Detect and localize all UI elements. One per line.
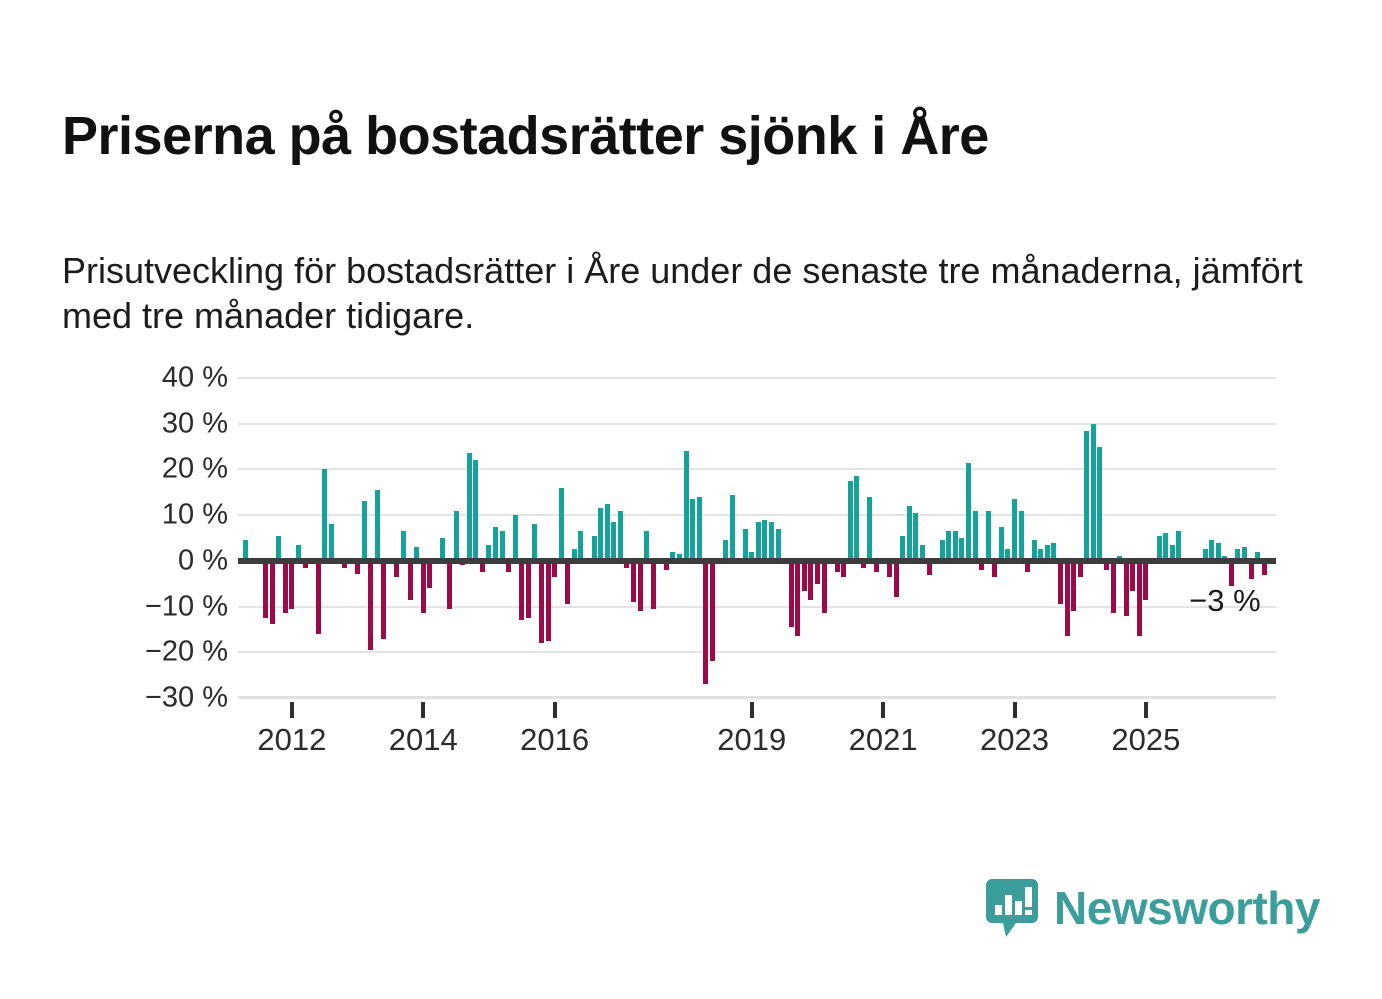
infographic-page: Priserna på bostadsrätter sjönk i Åre Pr…: [0, 0, 1382, 999]
bar-negative: [815, 561, 820, 584]
bar-negative: [519, 561, 524, 620]
bar-negative: [1137, 561, 1142, 636]
bar-negative: [703, 561, 708, 684]
bar-negative: [526, 561, 531, 618]
bar-positive: [611, 522, 616, 561]
bar-positive: [362, 501, 367, 560]
bar-positive: [1019, 511, 1024, 561]
bar-positive: [578, 531, 583, 561]
bar-positive: [1176, 531, 1181, 561]
x-tick: [290, 702, 294, 718]
bar-positive: [1084, 431, 1089, 561]
bar-positive: [473, 460, 478, 561]
y-axis: 40 %30 %20 %10 %0 %−10 %−20 %−30 %: [100, 378, 228, 708]
bar-positive: [532, 524, 537, 561]
bar-positive: [854, 476, 859, 561]
bar-positive: [559, 488, 564, 561]
x-tick-label: 2012: [257, 722, 326, 758]
bar-positive: [618, 511, 623, 561]
x-tick: [553, 702, 557, 718]
bar-positive: [986, 511, 991, 561]
bar-negative: [1071, 561, 1076, 611]
bar-positive: [454, 511, 459, 561]
bar-positive: [493, 527, 498, 561]
x-axis: 2012201420162019202120232025: [238, 696, 1276, 766]
bar-positive: [1091, 424, 1096, 561]
bar-chart-speech-bubble-icon: [986, 879, 1038, 937]
bar-positive: [999, 527, 1004, 561]
bar-positive: [762, 520, 767, 561]
bar-positive: [769, 522, 774, 561]
bar-negative: [316, 561, 321, 634]
bar-positive: [322, 469, 327, 560]
bar-positive: [513, 515, 518, 561]
bar-negative: [894, 561, 899, 598]
bar-negative: [1065, 561, 1070, 636]
bar-positive: [907, 506, 912, 561]
bar-negative: [1143, 561, 1148, 600]
bar-negative: [638, 561, 643, 611]
bar-positive: [329, 524, 334, 561]
bar-negative: [795, 561, 800, 636]
bar-negative: [651, 561, 656, 609]
page-subtitle: Prisutveckling för bostadsrätter i Åre u…: [62, 248, 1332, 339]
bar-positive: [776, 529, 781, 561]
x-tick-label: 2023: [980, 722, 1049, 758]
zero-line: [238, 558, 1276, 564]
bar-negative: [710, 561, 715, 662]
bar-negative: [1058, 561, 1063, 604]
bar-positive: [966, 463, 971, 561]
bar-negative: [1130, 561, 1135, 591]
y-tick-label: 20 %: [162, 453, 228, 486]
bar-positive: [644, 531, 649, 561]
bar-positive: [756, 522, 761, 561]
y-tick-label: −30 %: [145, 682, 228, 715]
bar-negative: [421, 561, 426, 614]
x-tick: [750, 702, 754, 718]
bar-negative: [802, 561, 807, 591]
y-tick-label: 0 %: [178, 544, 228, 577]
bar-negative: [447, 561, 452, 609]
x-tick: [1144, 702, 1148, 718]
bar-negative: [263, 561, 268, 618]
bar-negative: [789, 561, 794, 627]
bar-negative: [368, 561, 373, 650]
bar-positive: [1097, 447, 1102, 561]
bar-positive: [697, 497, 702, 561]
newsworthy-logo: Newsworthy: [986, 879, 1320, 937]
bar-positive: [605, 504, 610, 561]
chart-container: 40 %30 %20 %10 %0 %−10 %−20 %−30 % 20122…: [0, 378, 1382, 778]
page-title: Priserna på bostadsrätter sjönk i Åre: [62, 106, 1322, 166]
bar-negative: [631, 561, 636, 602]
y-tick-label: −10 %: [145, 590, 228, 623]
bar-positive: [598, 508, 603, 561]
bar-positive: [743, 529, 748, 561]
bar-negative: [283, 561, 288, 614]
bar-positive: [684, 451, 689, 561]
bar-positive: [500, 531, 505, 561]
bar-negative: [270, 561, 275, 624]
bar-series: [238, 378, 1276, 698]
x-tick-label: 2021: [849, 722, 918, 758]
bar-positive: [867, 497, 872, 561]
bar-negative: [427, 561, 432, 588]
bar-negative: [408, 561, 413, 600]
bar-positive: [946, 531, 951, 561]
logo-wordmark: Newsworthy: [1054, 885, 1320, 931]
x-tick: [421, 702, 425, 718]
y-tick-label: 30 %: [162, 407, 228, 440]
bar-positive: [848, 481, 853, 561]
bar-positive: [953, 531, 958, 561]
x-tick-label: 2016: [520, 722, 589, 758]
x-tick-label: 2014: [389, 722, 458, 758]
bar-positive: [1012, 499, 1017, 561]
bar-positive: [973, 511, 978, 561]
bar-negative: [289, 561, 294, 609]
bar-negative: [546, 561, 551, 641]
bar-positive: [690, 499, 695, 561]
bar-negative: [565, 561, 570, 604]
bar-negative: [1111, 561, 1116, 614]
bar-negative: [539, 561, 544, 643]
y-tick-label: 40 %: [162, 362, 228, 395]
last-value-label: −3 %: [1189, 583, 1261, 619]
bar-negative: [822, 561, 827, 614]
y-tick-label: 10 %: [162, 499, 228, 532]
bar-positive: [467, 453, 472, 560]
bar-positive: [730, 495, 735, 561]
bar-negative: [381, 561, 386, 639]
bar-negative: [808, 561, 813, 600]
bar-positive: [401, 531, 406, 561]
bar-negative: [1124, 561, 1129, 616]
plot-area: [238, 378, 1276, 698]
x-tick-label: 2019: [717, 722, 786, 758]
bar-positive: [375, 490, 380, 561]
x-tick: [1013, 702, 1017, 718]
bar-positive: [913, 513, 918, 561]
bar-positive: [1163, 533, 1168, 560]
x-tick: [881, 702, 885, 718]
x-tick-label: 2025: [1111, 722, 1180, 758]
y-tick-label: −20 %: [145, 636, 228, 669]
